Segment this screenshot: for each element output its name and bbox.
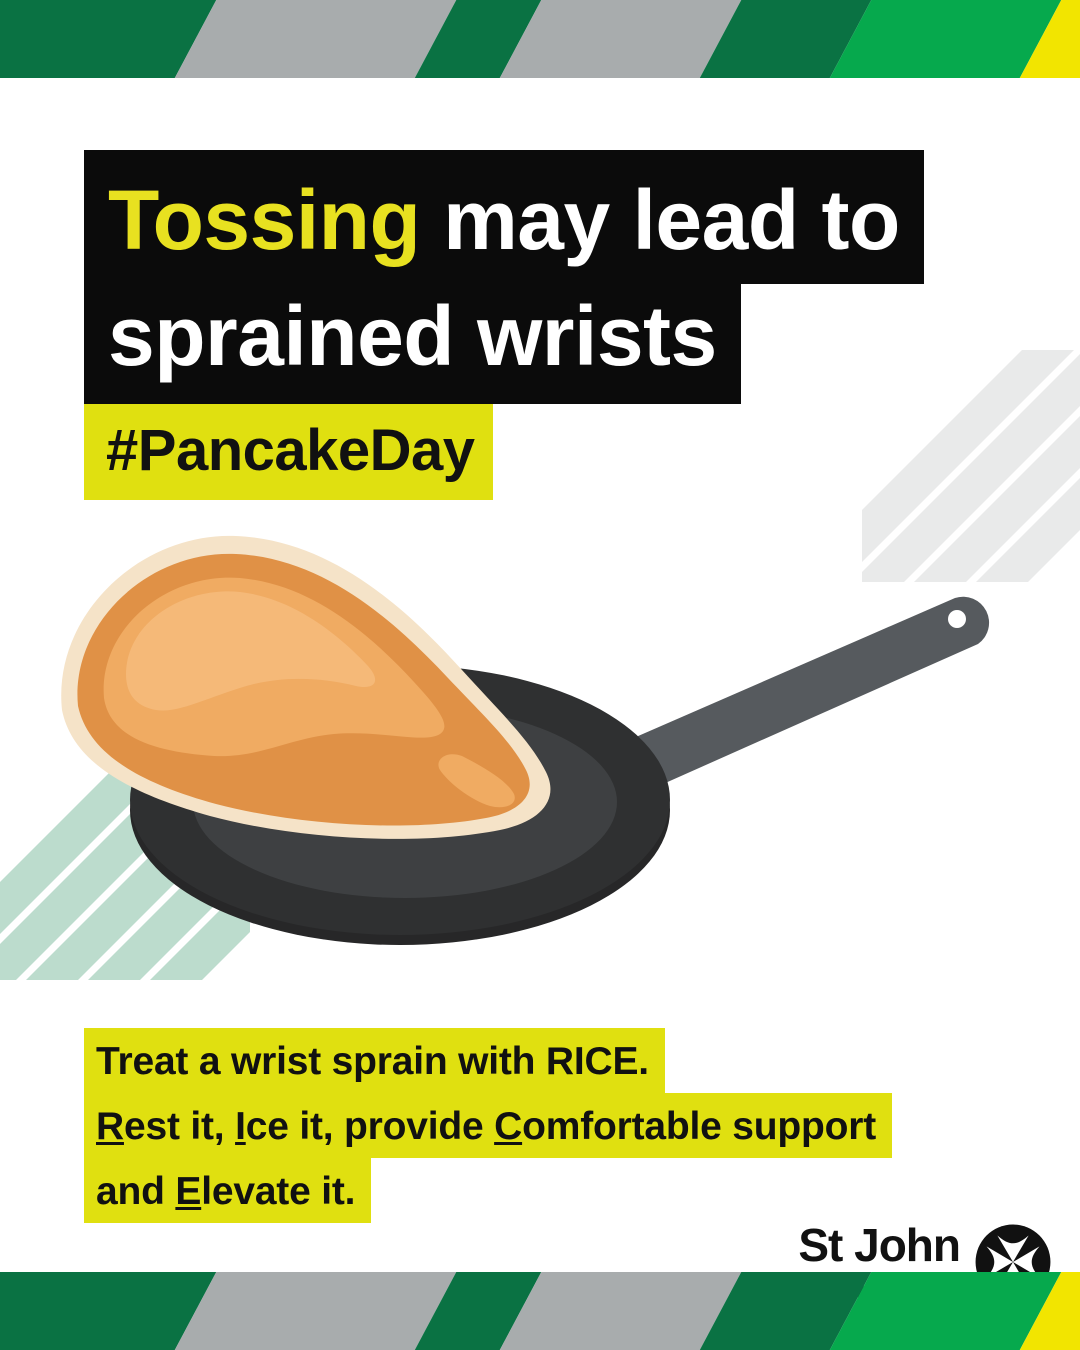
body-line-2: Rest it, Ice it, provide Comfortable sup…: [84, 1093, 984, 1158]
rice-initial: R: [96, 1105, 124, 1148]
body-copy-group: Treat a wrist sprain with RICE. Rest it,…: [84, 1028, 984, 1223]
body-text-run: levate it.: [201, 1170, 355, 1213]
chevron-segment: [168, 1272, 461, 1350]
headline-accent-word: Tossing: [108, 173, 420, 267]
headline-line-2-text: sprained wrists: [84, 284, 741, 404]
body-text-run: omfortable support: [522, 1105, 876, 1148]
headline-line-1-rest: may lead to: [420, 173, 900, 267]
headline-group: Tossing may lead to sprained wrists #Pan…: [84, 150, 964, 500]
body-text-run: and: [96, 1170, 175, 1213]
body-line-2-text: Rest it, Ice it, provide Comfortable sup…: [84, 1093, 892, 1158]
logo-line-1: St John: [798, 1222, 960, 1268]
body-line-3-text: and Elevate it.: [84, 1158, 371, 1223]
hashtag-row: #PancakeDay: [84, 404, 964, 500]
chevron-segment: [168, 0, 461, 78]
rice-initial: C: [494, 1105, 522, 1148]
body-text-run: ce it, provide: [246, 1105, 494, 1148]
body-text-run: est it,: [124, 1105, 235, 1148]
frying-pan-illustration: [0, 520, 1060, 990]
body-line-1-text: Treat a wrist sprain with RICE.: [84, 1028, 665, 1093]
headline-line-2: sprained wrists: [84, 284, 964, 404]
hashtag-label: #PancakeDay: [84, 404, 493, 500]
headline-line-1: Tossing may lead to: [84, 150, 964, 284]
brand-chevron-bar-top: [0, 0, 1080, 78]
rice-initial: I: [235, 1105, 246, 1148]
body-line-3: and Elevate it.: [84, 1158, 984, 1223]
body-line-1: Treat a wrist sprain with RICE.: [84, 1028, 984, 1093]
rice-initial: E: [175, 1170, 201, 1213]
brand-chevron-bar-bottom: [0, 1272, 1080, 1350]
poster-canvas: Tossing may lead to sprained wrists #Pan…: [0, 0, 1080, 1350]
